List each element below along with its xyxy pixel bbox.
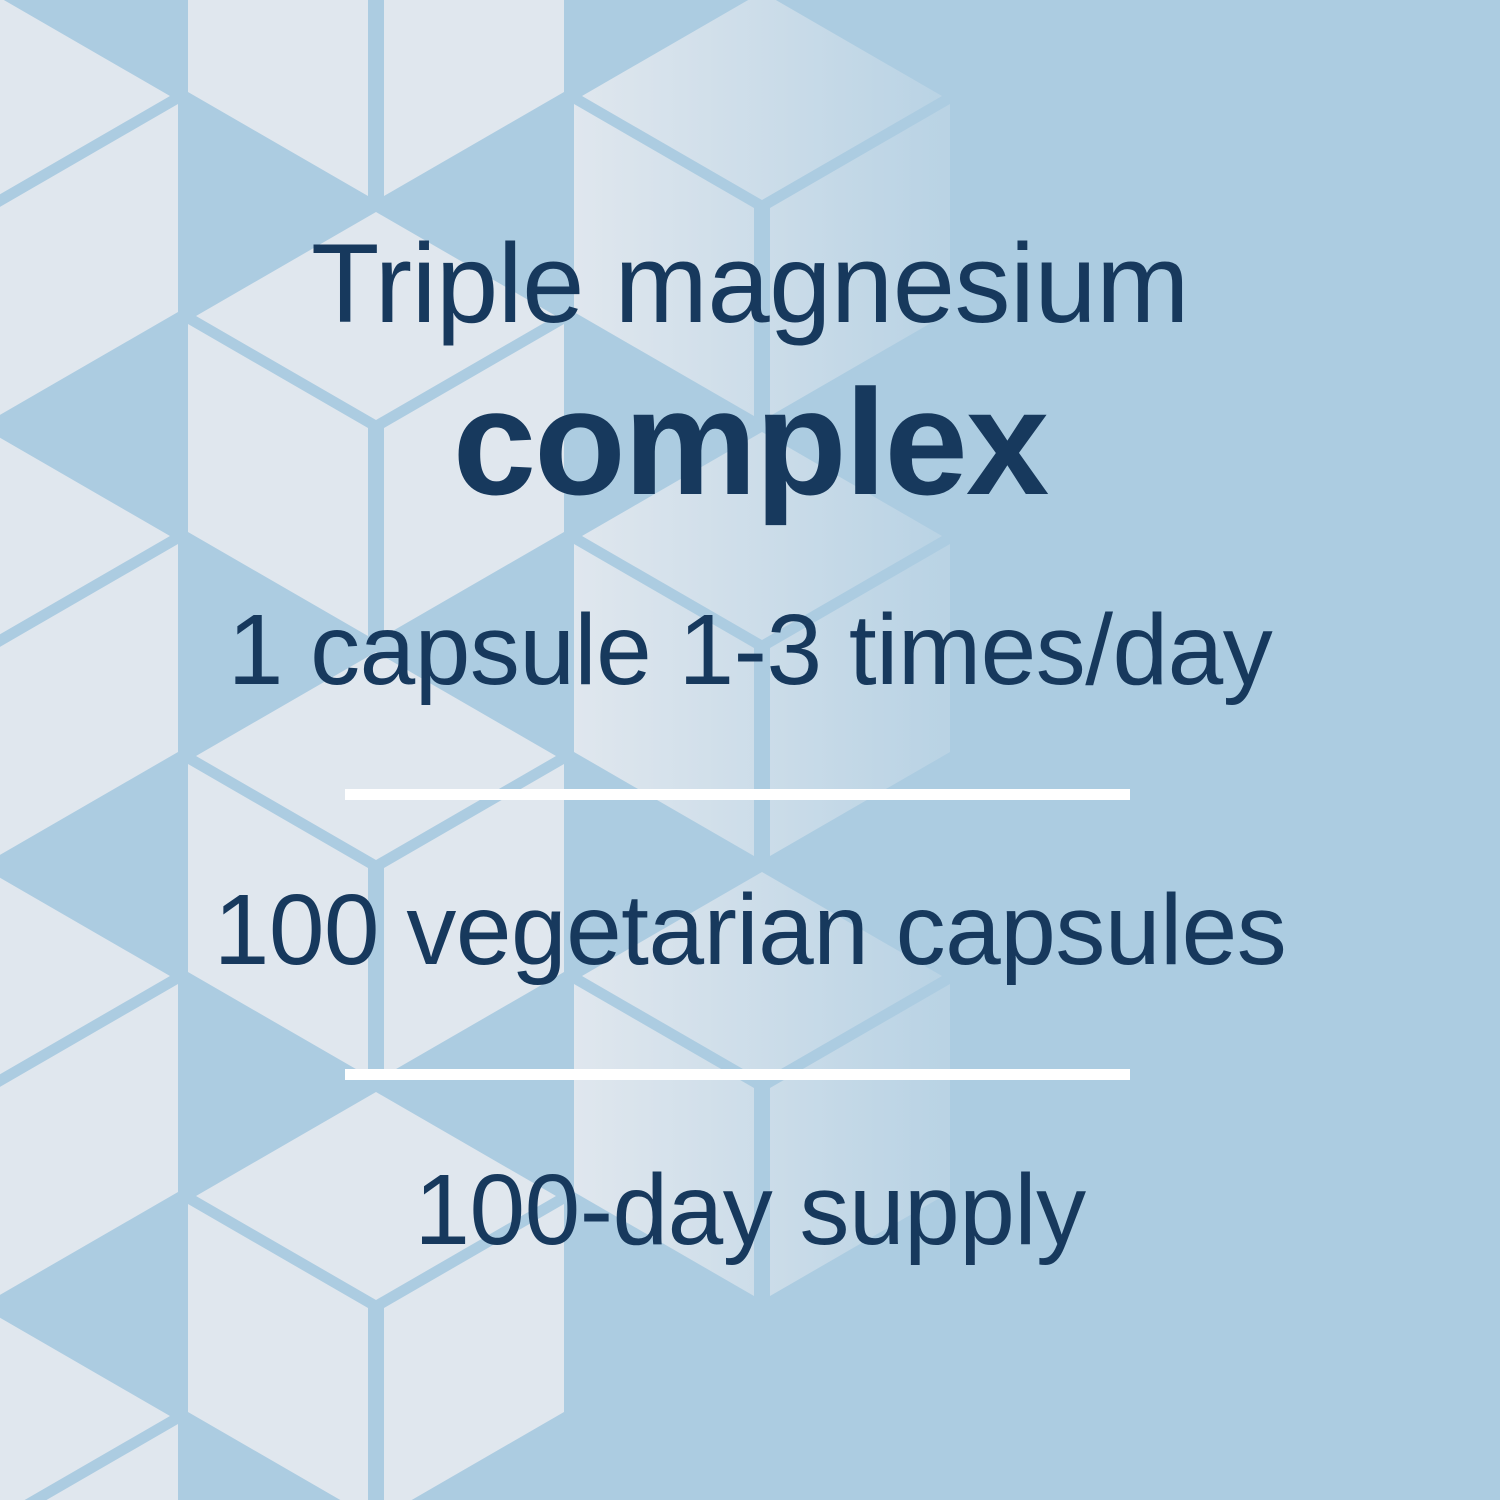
headline-line-1: Triple magnesium xyxy=(0,228,1500,340)
feature-supply-duration: 100-day supply xyxy=(0,1160,1500,1260)
content-layer: Triple magnesium complex 1 capsule 1-3 t… xyxy=(0,0,1500,1500)
divider-2 xyxy=(345,1069,1130,1080)
divider-1 xyxy=(345,789,1130,800)
feature-capsule-count: 100 vegetarian capsules xyxy=(0,880,1500,980)
headline-line-2: complex xyxy=(0,367,1500,517)
feature-dosage: 1 capsule 1-3 times/day xyxy=(0,600,1500,700)
product-feature-graphic: Triple magnesium complex 1 capsule 1-3 t… xyxy=(0,0,1500,1500)
